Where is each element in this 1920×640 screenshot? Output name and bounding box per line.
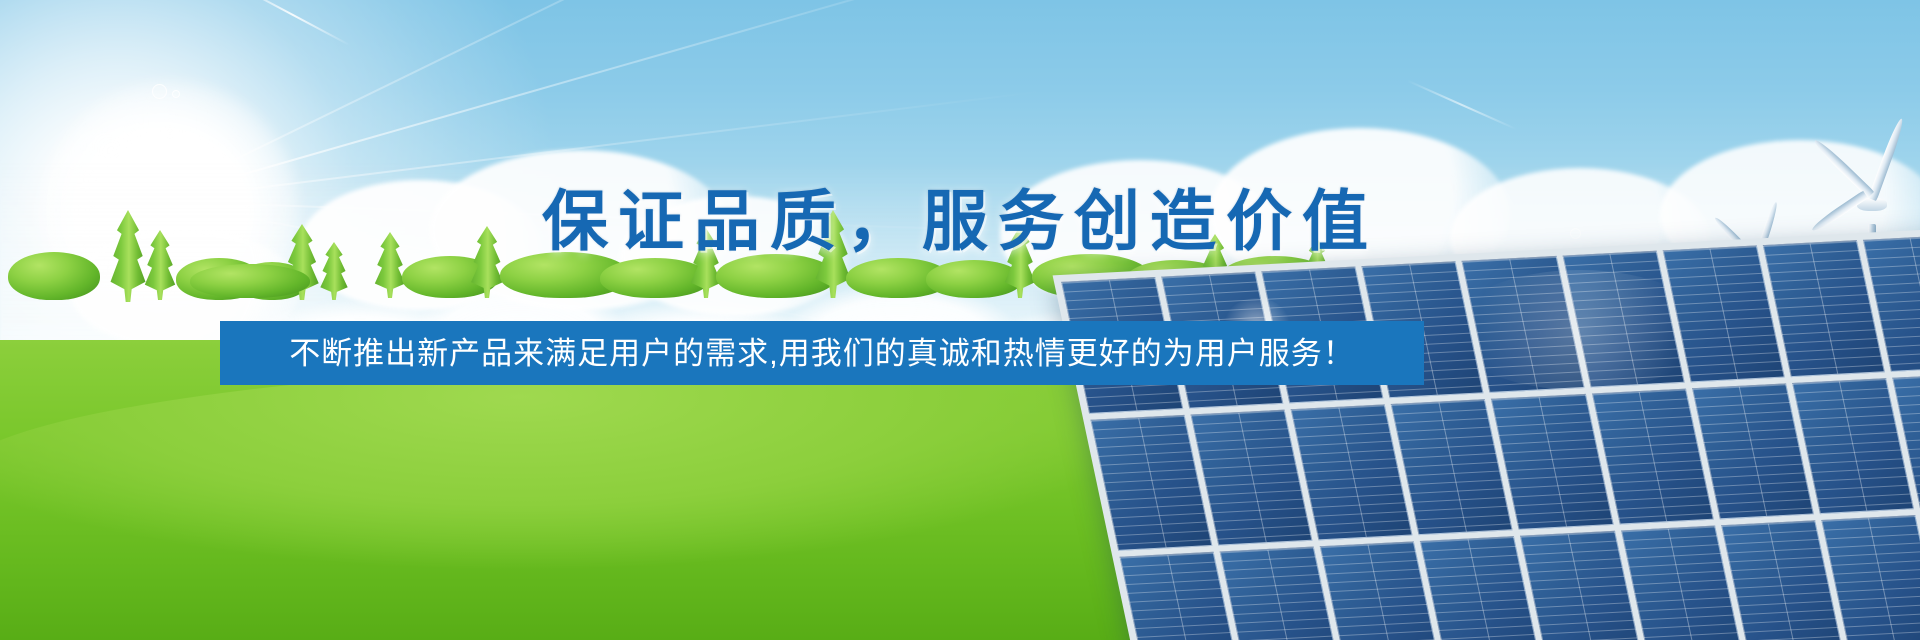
hero-banner: 保证品质，服务创造价值 不断推出新产品来满足用户的需求,用我们的真诚和热情更好的… — [0, 0, 1920, 640]
lens-flare-dot — [172, 90, 180, 98]
solar-panel-array — [1150, 230, 1920, 640]
subtitle-text: 不断推出新产品来满足用户的需求,用我们的真诚和热情更好的为用户服务！ — [289, 338, 1355, 369]
lens-flare-dot — [152, 84, 167, 99]
tree-bush — [190, 264, 310, 298]
subtitle-banner-bar: 不断推出新产品来满足用户的需求,用我们的真诚和热情更好的为用户服务！ — [220, 321, 1424, 385]
solar-panel — [1053, 228, 1920, 640]
page-title: 保证品质，服务创造价值 — [0, 168, 1920, 264]
